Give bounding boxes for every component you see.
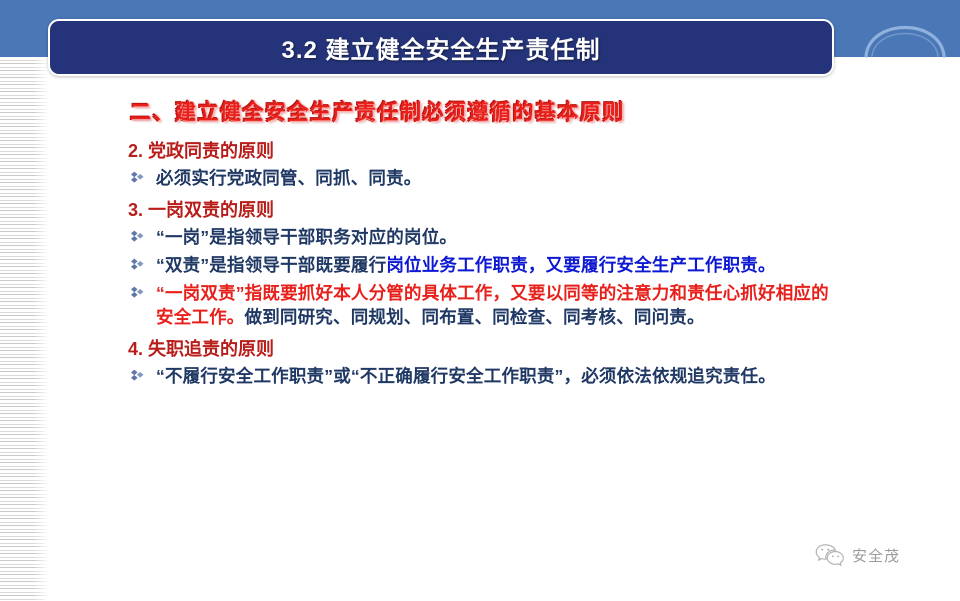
- bullet-item: “一岗双责”指既要抓好本人分管的具体工作，又要以同等的注意力和责任心抓好相应的安…: [130, 281, 842, 331]
- slide-title-bar: 3.2 建立健全安全生产责任制: [48, 19, 834, 76]
- text-run: “双责”是指领导干部既要履行: [156, 255, 386, 275]
- text-run: 做到同研究、同规划、同布置、同检查、同考核、同问责。: [245, 307, 705, 327]
- diamond-bullet-icon: [130, 166, 156, 184]
- principle-heading: 3. 一岗双责的原则: [128, 199, 842, 222]
- diamond-bullet-icon: [130, 364, 156, 382]
- watermark-label: 安全茂: [852, 545, 900, 566]
- bullet-text: “不履行安全工作职责”或“不正确履行安全工作职责”，必须依法依规追究责任。: [156, 364, 842, 389]
- content-block-list: 2. 党政同责的原则必须实行党政同管、同抓、同责。3. 一岗双责的原则“一岗”是…: [126, 140, 842, 389]
- bullet-text: “一岗双责”指既要抓好本人分管的具体工作，又要以同等的注意力和责任心抓好相应的安…: [156, 281, 842, 331]
- slide-body: 二、建立健全安全生产责任制必须遵循的基本原则 2. 党政同责的原则必须实行党政同…: [126, 96, 842, 392]
- slide-canvas: 3.2 建立健全安全生产责任制 二、建立健全安全生产责任制必须遵循的基本原则 2…: [0, 0, 960, 601]
- bullet-text: “一岗”是指领导干部职务对应的岗位。: [156, 225, 842, 250]
- text-run: 岗位业务工作职责，又要履行安全生产工作职责。: [386, 255, 775, 275]
- watermark: 安全茂: [815, 543, 900, 568]
- text-run: “不履行安全工作职责”或“不正确履行安全工作职责”，必须依法依规追究责任。: [156, 366, 776, 386]
- principle-heading: 2. 党政同责的原则: [128, 140, 842, 163]
- page-title: 3.2 建立健全安全生产责任制: [281, 30, 600, 65]
- diamond-bullet-icon: [130, 225, 156, 243]
- diamond-bullet-icon: [130, 253, 156, 271]
- text-run: 必须实行党政同管、同抓、同责。: [156, 168, 422, 188]
- bullet-item: “双责”是指领导干部既要履行岗位业务工作职责，又要履行安全生产工作职责。: [130, 253, 842, 278]
- bullet-text: “双责”是指领导干部既要履行岗位业务工作职责，又要履行安全生产工作职责。: [156, 253, 842, 278]
- section-heading: 二、建立健全安全生产责任制必须遵循的基本原则: [130, 96, 842, 126]
- bullet-item: “一岗”是指领导干部职务对应的岗位。: [130, 225, 842, 250]
- left-stripe-fade: [0, 57, 48, 601]
- bullet-item: “不履行安全工作职责”或“不正确履行安全工作职责”，必须依法依规追究责任。: [130, 364, 842, 389]
- diamond-bullet-icon: [130, 281, 156, 299]
- principle-heading: 4. 失职追责的原则: [128, 338, 842, 361]
- bullet-text: 必须实行党政同管、同抓、同责。: [156, 166, 842, 191]
- wechat-logo-icon: [815, 543, 845, 568]
- bullet-item: 必须实行党政同管、同抓、同责。: [130, 166, 842, 191]
- text-run: “一岗”是指领导干部职务对应的岗位。: [156, 227, 457, 247]
